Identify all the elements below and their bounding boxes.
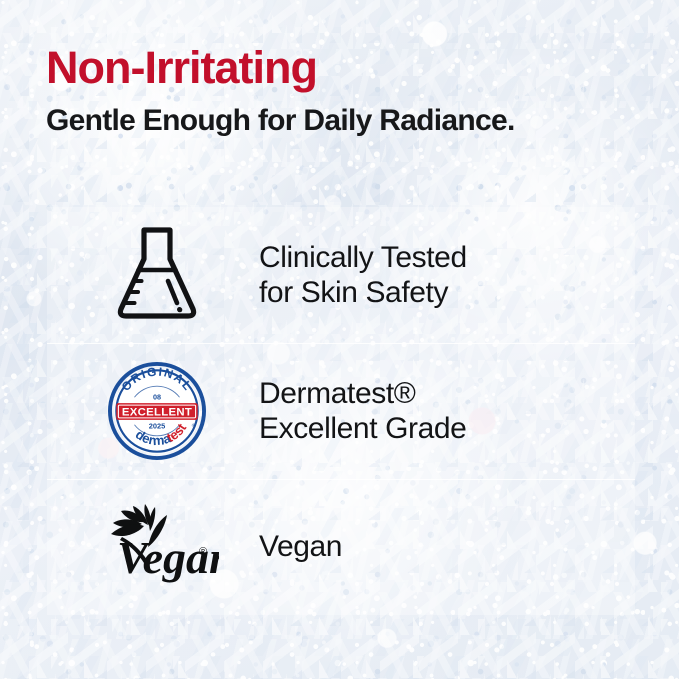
feature-label-line: Vegan	[259, 529, 342, 564]
feature-label-line: Dermatest®	[259, 376, 466, 411]
dermatest-excellent-badge-icon: ORIGINAL 08 EXCELLENT 2025	[108, 362, 206, 460]
badge-number-top: 08	[153, 393, 161, 402]
vegan-registered-mark: ®	[199, 546, 207, 558]
badge-year: 2025	[149, 422, 166, 431]
feature-row-clinically-tested: Clinically Tested for Skin Safety	[47, 207, 635, 343]
vegan-logo-icon: Vegan ®	[95, 501, 219, 593]
promo-graphic-canvas: Non-Irritating Gentle Enough for Daily R…	[0, 0, 679, 679]
feature-panel: Clinically Tested for Skin Safety	[47, 207, 635, 615]
feature-row-dermatest: ORIGINAL 08 EXCELLENT 2025	[47, 343, 635, 479]
feature-row-vegan: Vegan ® Vegan	[47, 479, 635, 615]
feature-label-line: Excellent Grade	[259, 411, 466, 446]
feature-label-line: for Skin Safety	[259, 275, 467, 310]
feature-label-vegan: Vegan	[259, 529, 342, 564]
feature-icon-cell: ORIGINAL 08 EXCELLENT 2025	[91, 362, 223, 460]
subheadline: Gentle Enough for Daily Radiance.	[46, 104, 646, 137]
headline: Non-Irritating	[46, 44, 646, 92]
feature-icon-cell: Vegan ®	[91, 501, 223, 593]
feature-label-line: Clinically Tested	[259, 240, 467, 275]
feature-label-clinically-tested: Clinically Tested for Skin Safety	[259, 240, 467, 311]
erlenmeyer-flask-icon	[114, 223, 200, 328]
badge-registered-mark: ®	[192, 422, 196, 429]
feature-icon-cell	[91, 223, 223, 328]
badge-banner-excellent: EXCELLENT	[122, 406, 192, 418]
header-block: Non-Irritating Gentle Enough for Daily R…	[46, 44, 646, 137]
feature-label-dermatest: Dermatest® Excellent Grade	[259, 376, 466, 447]
